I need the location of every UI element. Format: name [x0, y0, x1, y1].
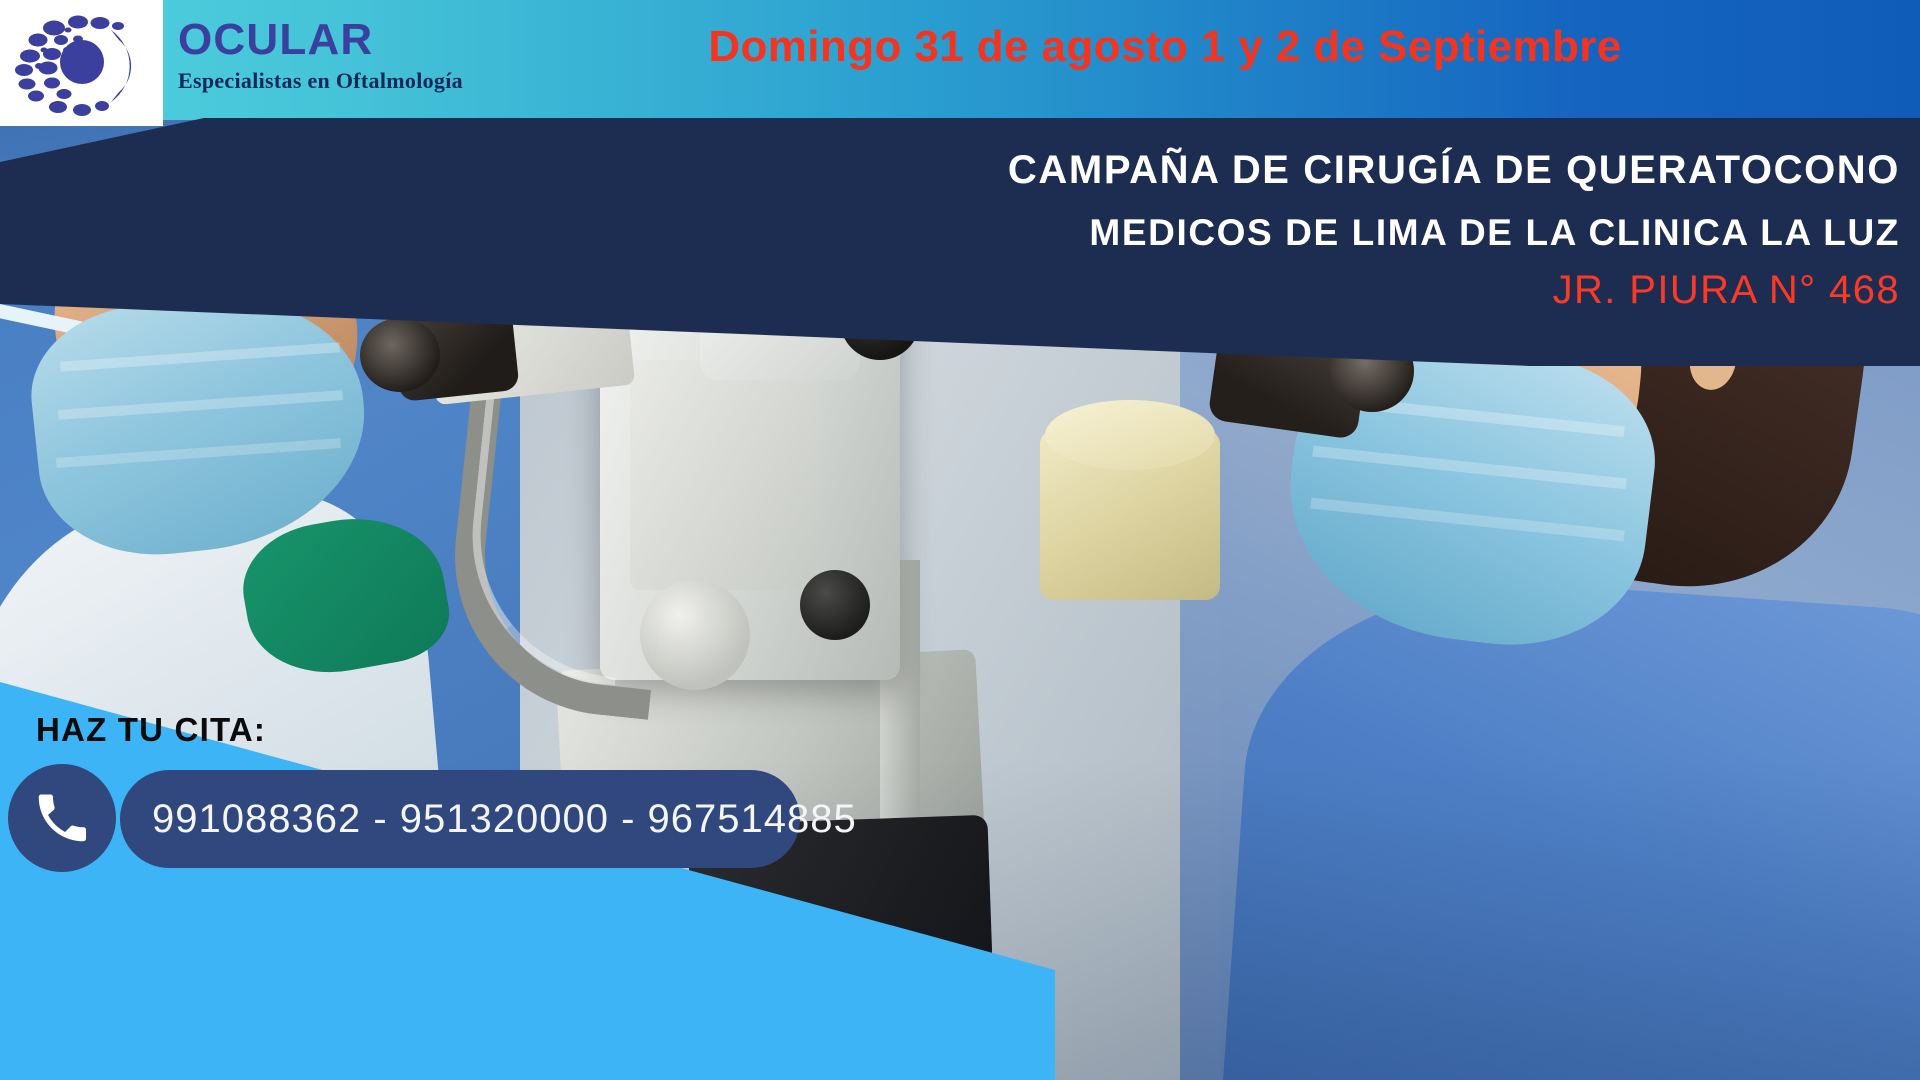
brand-block: OCULAR Especialistas en Oftalmología	[178, 16, 463, 96]
headline-text-group: CAMPAÑA DE CIRUGÍA DE QUERATOCONO MEDICO…	[0, 126, 1920, 376]
advertisement-banner: OCULAR Especialistas en Oftalmología Dom…	[0, 0, 1920, 1080]
header-bar: OCULAR Especialistas en Oftalmología Dom…	[0, 0, 1920, 120]
clinic-address: JR. PIURA N° 468	[1553, 268, 1900, 313]
logo-container	[0, 0, 163, 126]
cta-label: HAZ TU CITA:	[36, 711, 266, 749]
phone-icon-button[interactable]	[8, 764, 116, 872]
phone-handset-icon	[31, 787, 93, 849]
eye-iris-dots-logo-icon	[8, 6, 156, 118]
campaign-date: Domingo 31 de agosto 1 y 2 de Septiembre	[455, 22, 1875, 72]
phone-numbers-pill[interactable]: 991088362 - 951320000 - 967514885	[120, 770, 800, 868]
brand-name: OCULAR	[178, 16, 463, 64]
headline-line-1: CAMPAÑA DE CIRUGÍA DE QUERATOCONO	[1008, 148, 1900, 193]
brand-tagline: Especialistas en Oftalmología	[178, 66, 463, 96]
phone-numbers: 991088362 - 951320000 - 967514885	[152, 797, 857, 842]
headline-line-2: MEDICOS DE LIMA DE LA CLINICA LA LUZ	[1089, 212, 1900, 254]
